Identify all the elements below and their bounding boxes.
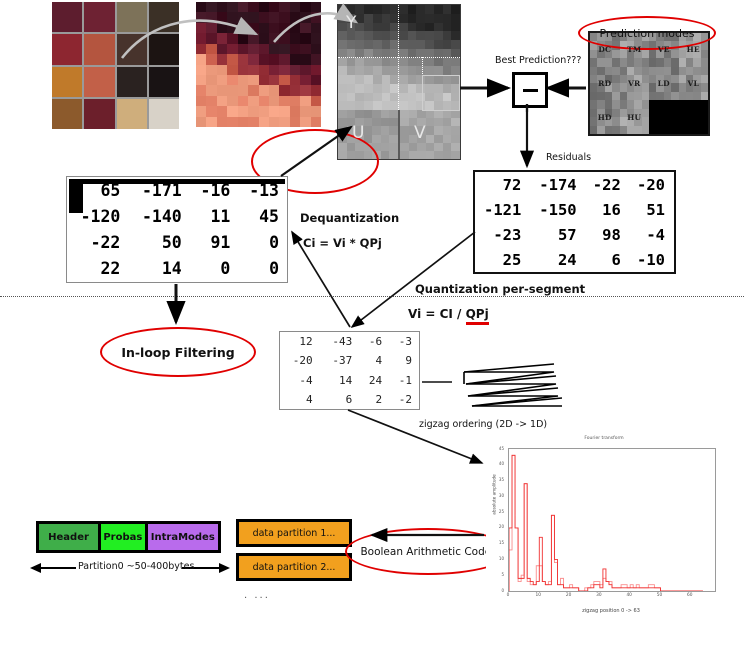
- matrix-cell: -4: [630, 222, 674, 247]
- plane-pixel: [389, 135, 398, 143]
- pred-mode-label: TM: [627, 45, 641, 54]
- pred-mode-texel: [597, 126, 604, 134]
- photo-tile: [149, 34, 179, 64]
- macroblock-pixel: [279, 65, 289, 75]
- plane-pixel: [338, 40, 347, 49]
- encoder-decoder-divider: [0, 296, 744, 297]
- plane-pixel: [389, 110, 398, 118]
- pred-mode-texel: [590, 126, 597, 134]
- matrix-cell: 9: [389, 351, 419, 370]
- macroblock-pixel: [269, 75, 279, 85]
- macroblock-pixel: [311, 12, 321, 22]
- matrix-row: 25 24 6 -10: [475, 247, 674, 272]
- macroblock-pixel: [206, 33, 216, 43]
- pred-mode-texel: [642, 92, 649, 100]
- macroblock-pixel: [206, 44, 216, 54]
- pred-mode-texel: [605, 58, 612, 66]
- pred-mode-texel: [701, 92, 708, 100]
- plane-pixel: [434, 23, 443, 32]
- plane-pixel: [355, 101, 364, 110]
- matrix-cell: 6: [320, 390, 360, 409]
- matrix-cell: -23: [475, 222, 530, 247]
- plane-pixel: [381, 110, 390, 118]
- macroblock-pixel: [196, 33, 206, 43]
- plane-pixel: [347, 75, 356, 84]
- pred-mode-empty: [679, 100, 709, 134]
- matrix-cell: 4: [280, 390, 320, 409]
- zigzag-ordering-label: zigzag ordering (2D -> 1D): [419, 419, 547, 430]
- matrix-row: -120 -140 11 45: [67, 203, 287, 229]
- pred-mode-cell: HD: [590, 100, 620, 134]
- plane-pixel: [434, 5, 443, 14]
- matrix-cell: -4: [280, 371, 320, 390]
- macroblock-pixel: [248, 106, 258, 116]
- plane-pixel: [382, 31, 391, 40]
- macroblock-pixel: [248, 33, 258, 43]
- plane-pixel: [382, 93, 391, 102]
- plane-pixel: [399, 75, 408, 84]
- plane-pixel: [451, 14, 460, 23]
- macroblock-pixel: [196, 23, 206, 33]
- plane-pixel: [338, 118, 347, 126]
- plane-pixel: [373, 75, 382, 84]
- plane-pixel: [347, 84, 356, 93]
- plane-pixel: [355, 84, 364, 93]
- plane-pixel: [382, 14, 391, 23]
- pred-mode-texel: [693, 58, 700, 66]
- plane-pixel: [355, 93, 364, 102]
- plane-pixel: [355, 5, 364, 14]
- macroblock-pixel: [238, 44, 248, 54]
- pred-mode-cell: RD: [590, 67, 620, 101]
- chart-x-tick: 10: [528, 593, 548, 598]
- chart-series-svg: [509, 449, 715, 591]
- plane-pixel: [408, 31, 417, 40]
- pred-mode-texel: [605, 67, 612, 75]
- macroblock-pixel: [269, 33, 279, 43]
- plane-pixel: [443, 135, 452, 143]
- pred-mode-texel: [642, 117, 649, 125]
- plane-pixel: [409, 110, 418, 118]
- macroblock-pixel: [311, 106, 321, 116]
- pred-mode-texel: [590, 109, 597, 117]
- macroblock-pixel: [279, 2, 289, 12]
- matrix-row: -4 14 24 -1: [280, 371, 419, 390]
- plane-pixel: [443, 110, 452, 118]
- plane-pixel: [434, 110, 443, 118]
- matrix-cell: 25: [475, 247, 530, 272]
- plane-pixel: [426, 151, 435, 159]
- plane-pixel: [399, 66, 408, 75]
- pred-mode-texel: [671, 92, 678, 100]
- plane-pixel: [364, 75, 373, 84]
- pred-mode-texel: [620, 75, 627, 83]
- pred-mode-texel: [612, 92, 619, 100]
- pred-mode-texel: [693, 92, 700, 100]
- macroblock-pixel: [269, 65, 279, 75]
- macroblock-pixel: [217, 23, 227, 33]
- macroblock-pixel: [269, 96, 279, 106]
- plane-pixel: [364, 40, 373, 49]
- pred-mode-texel: [634, 67, 641, 75]
- plane-pixel: [373, 58, 382, 67]
- macroblock-pixel: [248, 117, 258, 127]
- pred-mode-texel: [642, 67, 649, 75]
- pred-mode-texel: [627, 92, 634, 100]
- pred-mode-texel: [649, 50, 656, 58]
- plane-pixel: [451, 151, 460, 159]
- matrix-cell: 51: [630, 197, 674, 222]
- pred-mode-label: HD: [598, 113, 612, 122]
- plane-pixel: [399, 31, 408, 40]
- macroblock-pixel: [206, 106, 216, 116]
- pred-mode-texel: [679, 75, 686, 83]
- plane-pixel: [373, 23, 382, 32]
- plane-pixel: [355, 58, 364, 67]
- pred-mode-texel: [671, 58, 678, 66]
- pred-mode-texel: [701, 75, 708, 83]
- pred-mode-texel: [664, 92, 671, 100]
- chart-y-tick: 25: [486, 509, 504, 514]
- pred-mode-empty: [649, 100, 679, 134]
- macroblock-pixel: [290, 65, 300, 75]
- pred-mode-texel: [701, 83, 708, 91]
- y-plane-label: Y: [346, 13, 356, 33]
- matrix-row: 12 -43 -6 -3: [280, 332, 419, 351]
- plane-pixel: [399, 84, 408, 93]
- macroblock-pixel: [196, 44, 206, 54]
- pred-mode-texel: [679, 50, 686, 58]
- macroblock-pixel: [206, 117, 216, 127]
- pred-mode-texel: [656, 58, 663, 66]
- pred-mode-texel: [620, 100, 627, 108]
- macroblock-pixel: [290, 106, 300, 116]
- matrix-cell: 91: [190, 230, 239, 256]
- macroblock-pixel: [300, 54, 310, 64]
- pred-mode-texel: [597, 100, 604, 108]
- chart-plot-area: [508, 448, 716, 592]
- macroblock-pixel: [206, 12, 216, 22]
- chart-x-tick: 40: [619, 593, 639, 598]
- plane-pixel: [408, 66, 417, 75]
- macroblock-pixel: [206, 96, 216, 106]
- pred-mode-texel: [642, 50, 649, 58]
- macroblock-pixel: [311, 96, 321, 106]
- macroblock-pixel: [259, 44, 269, 54]
- in-loop-filtering-label: In-loop Filtering: [121, 345, 234, 360]
- pred-mode-texel: [664, 67, 671, 75]
- macroblock-pixel: [227, 54, 237, 64]
- macroblock-pixel: [269, 106, 279, 116]
- plane-pixel: [451, 23, 460, 32]
- pred-mode-texel: [686, 92, 693, 100]
- plane-pixel: [373, 31, 382, 40]
- macroblock-pixel: [300, 96, 310, 106]
- macroblock-pixel: [311, 85, 321, 95]
- pred-mode-label: VL: [688, 79, 700, 88]
- source-photo-macroblock-grid: [52, 2, 179, 129]
- plane-pixel: [382, 23, 391, 32]
- macroblock-pixel: [238, 85, 248, 95]
- plane-pixel: [373, 84, 382, 93]
- chart-series-series-dark: [509, 455, 703, 591]
- macroblock-pixel: [217, 44, 227, 54]
- plane-pixel: [451, 135, 460, 143]
- macroblock-pixel: [217, 75, 227, 85]
- macroblock-pixel: [196, 65, 206, 75]
- matrix-row: -22 50 91 0: [67, 230, 287, 256]
- plane-pixel: [416, 40, 425, 49]
- dequantization-formula: Ci = Vi * QPj: [303, 236, 382, 250]
- pred-mode-texel: [605, 100, 612, 108]
- macroblock-pixel: [206, 85, 216, 95]
- plane-pixel: [416, 58, 425, 67]
- plane-pixel: [399, 14, 408, 23]
- matrix-cell: 16: [586, 197, 630, 222]
- macroblock-pixel: [217, 2, 227, 12]
- plane-pixel: [434, 126, 443, 134]
- plane-pixel: [425, 58, 434, 67]
- macroblock-pixel: [227, 65, 237, 75]
- macroblock-pixel: [259, 106, 269, 116]
- zoomed-pixelated-macroblock: [196, 2, 321, 127]
- plane-pixel: [338, 110, 347, 118]
- macroblock-pixel: [248, 65, 258, 75]
- chart-y-tick: 40: [486, 461, 504, 466]
- plane-pixel: [373, 14, 382, 23]
- macroblock-pixel: [290, 96, 300, 106]
- pred-mode-texel: [620, 117, 627, 125]
- macroblock-pixel: [227, 44, 237, 54]
- matrix-cell: -3: [389, 332, 419, 351]
- plane-pixel: [434, 143, 443, 151]
- plane-pixel: [399, 40, 408, 49]
- matrix-cell: 14: [128, 256, 189, 282]
- macroblock-pixel: [217, 106, 227, 116]
- pred-mode-label: HU: [627, 113, 641, 122]
- pred-mode-texel: [597, 58, 604, 66]
- pred-mode-texel: [612, 126, 619, 134]
- pred-mode-texel: [671, 75, 678, 83]
- plane-pixel: [451, 58, 460, 67]
- plane-pixel: [364, 14, 373, 23]
- pred-mode-texel: [642, 109, 649, 117]
- macroblock-pixel: [300, 12, 310, 22]
- matrix-dc-marker: [69, 179, 83, 213]
- macroblock-pixel: [279, 96, 289, 106]
- macroblock-pixel: [196, 96, 206, 106]
- plane-pixel: [347, 66, 356, 75]
- best-prediction-label: Best Prediction???: [495, 55, 581, 66]
- pred-mode-texel: [671, 50, 678, 58]
- macroblock-pixel: [248, 12, 258, 22]
- plane-pixel: [416, 31, 425, 40]
- plane-pixel: [451, 143, 460, 151]
- macroblock-pixel: [311, 2, 321, 12]
- plane-pixel: [347, 110, 356, 118]
- chart-y-tick: 15: [486, 540, 504, 545]
- matrix-cell: -20: [280, 351, 320, 370]
- pred-mode-label: VR: [628, 79, 640, 88]
- macroblock-pixel: [227, 23, 237, 33]
- plane-pixel: [451, 118, 460, 126]
- plane-pixel: [355, 110, 364, 118]
- matrix-cell: -20: [630, 172, 674, 197]
- pred-mode-texel: [590, 67, 597, 75]
- plane-pixel: [426, 135, 435, 143]
- macroblock-pixel: [300, 75, 310, 85]
- matrix-row: -20 -37 4 9: [280, 351, 419, 370]
- plane-pixel: [425, 5, 434, 14]
- pred-mode-texel: [701, 67, 708, 75]
- macroblock-pixel: [206, 65, 216, 75]
- matrix-cell: 6: [586, 247, 630, 272]
- macroblock-pixel: [269, 12, 279, 22]
- pred-mode-texel: [649, 92, 656, 100]
- macroblock-pixel: [227, 96, 237, 106]
- macroblock-pixel: [248, 75, 258, 85]
- pred-mode-label: RD: [598, 79, 611, 88]
- macroblock-pixel: [196, 54, 206, 64]
- minus-icon: [523, 89, 538, 92]
- plane-pixel: [347, 58, 356, 67]
- macroblock-pixel: [196, 12, 206, 22]
- pred-mode-texel: [642, 75, 649, 83]
- plane-pixel: [416, 23, 425, 32]
- matrix-cell: 0: [238, 256, 287, 282]
- matrix-cell: 4: [359, 351, 389, 370]
- plane-pixel: [382, 101, 391, 110]
- plane-pixel: [382, 5, 391, 14]
- plane-pixel: [373, 66, 382, 75]
- pred-mode-texel: [620, 67, 627, 75]
- plane-pixel: [355, 40, 364, 49]
- pred-mode-texel: [656, 67, 663, 75]
- photo-tile: [84, 34, 114, 64]
- macroblock-pixel: [269, 23, 279, 33]
- pred-mode-texel: [634, 58, 641, 66]
- plane-pixel: [417, 110, 426, 118]
- plane-pixel: [347, 101, 356, 110]
- plane-pixel: [443, 143, 452, 151]
- quantization-formula-qpj: QPj: [466, 307, 489, 325]
- pred-mode-texel: [590, 50, 597, 58]
- matrix-row: 22 14 0 0: [67, 256, 287, 282]
- pred-mode-cell: LD: [649, 67, 679, 101]
- pred-mode-cell: HU: [620, 100, 650, 134]
- matrix-top-bar: [69, 179, 285, 184]
- residuals-label: Residuals: [546, 152, 591, 163]
- plane-pixel: [338, 84, 347, 93]
- dequantization-label: Dequantization: [300, 211, 399, 225]
- macroblock-pixel: [259, 12, 269, 22]
- chart-x-axis-label: zigzag position 0 -> 63: [508, 608, 714, 614]
- dequantized-coefficients-matrix: 65 -171 -16 -13 -120 -140 11 45 -22 50 9…: [66, 176, 288, 283]
- plane-pixel: [364, 58, 373, 67]
- chart-y-tick: 10: [486, 556, 504, 561]
- chart-x-tick: 20: [559, 593, 579, 598]
- macroblock-pixel: [259, 75, 269, 85]
- plane-pixel: [409, 143, 418, 151]
- photo-tile: [117, 67, 147, 97]
- macroblock-pixel: [227, 33, 237, 43]
- plane-pixel: [364, 93, 373, 102]
- plane-pixel: [416, 5, 425, 14]
- levels-histogram-chart: Fourier transform absolute amplitude zig…: [486, 436, 722, 636]
- macroblock-pixel: [269, 54, 279, 64]
- plane-pixel: [443, 58, 452, 67]
- matrix-row: 4 6 2 -2: [280, 390, 419, 409]
- plane-pixel: [451, 5, 460, 14]
- macroblock-pixel: [217, 12, 227, 22]
- matrix-cell: 57: [530, 222, 585, 247]
- plane-pixel: [364, 118, 373, 126]
- plane-pixel: [434, 58, 443, 67]
- matrix-cell: 12: [280, 332, 320, 351]
- plane-pixel: [381, 135, 390, 143]
- plane-pixel: [443, 14, 452, 23]
- plane-pixel: [399, 23, 408, 32]
- plane-pixel: [373, 101, 382, 110]
- plane-pixel: [372, 118, 381, 126]
- matrix-cell: -37: [320, 351, 360, 370]
- pred-mode-texel: [671, 83, 678, 91]
- partition0-bar: Header Probas IntraModes: [36, 521, 221, 553]
- photo-tile: [117, 34, 147, 64]
- macroblock-pixel: [279, 106, 289, 116]
- macroblock-pixel: [259, 85, 269, 95]
- macroblock-pixel: [259, 117, 269, 127]
- plane-pixel: [426, 143, 435, 151]
- plane-pixel: [364, 110, 373, 118]
- macroblock-pixel: [311, 44, 321, 54]
- pred-mode-texel: [612, 75, 619, 83]
- plane-pixel: [355, 75, 364, 84]
- macroblock-pixel: [217, 117, 227, 127]
- plane-pixel: [381, 151, 390, 159]
- plane-pixel: [400, 135, 409, 143]
- pred-mode-texel: [620, 83, 627, 91]
- plane-pixel: [408, 75, 417, 84]
- plane-pixel: [451, 31, 460, 40]
- plane-pixel: [364, 126, 373, 134]
- matrix-cell: 72: [475, 172, 530, 197]
- matrix-cell: 24: [359, 371, 389, 390]
- matrix-cell: -6: [359, 332, 389, 351]
- macroblock-pixel: [290, 54, 300, 64]
- macroblock-pixel: [300, 85, 310, 95]
- pred-mode-texel: [642, 83, 649, 91]
- macroblock-pixel: [259, 65, 269, 75]
- plane-pixel: [408, 23, 417, 32]
- plane-pixel: [451, 66, 460, 75]
- macroblock-pixel: [259, 96, 269, 106]
- macroblock-pixel: [290, 12, 300, 22]
- macroblock-pixel: [269, 85, 279, 95]
- matrix-row: -23 57 98 -4: [475, 222, 674, 247]
- plane-pixel: [373, 5, 382, 14]
- chart-x-tick: 50: [649, 593, 669, 598]
- plane-pixel: [443, 118, 452, 126]
- macroblock-pixel: [311, 65, 321, 75]
- subtract-operator-box: [512, 72, 548, 108]
- matrix-cell: 0: [190, 256, 239, 282]
- plane-pixel: [338, 93, 347, 102]
- plane-pixel: [355, 31, 364, 40]
- pred-mode-texel: [612, 58, 619, 66]
- macroblock-pixel: [238, 2, 248, 12]
- macroblock-pixel: [248, 54, 258, 64]
